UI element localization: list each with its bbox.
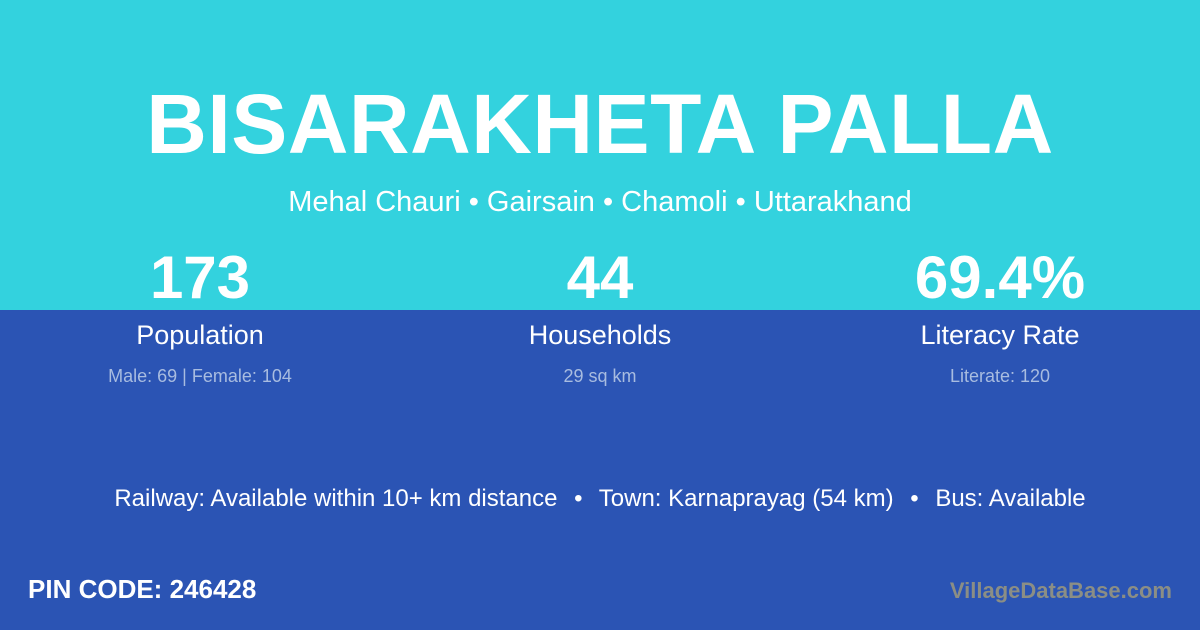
stat-literacy-rate: 69.4% Literacy Rate Literate: 120	[800, 240, 1200, 385]
stat-label-population: Population	[0, 322, 400, 349]
stat-sub-population: Male: 69 | Female: 104	[0, 367, 400, 385]
stat-value-literacy-rate: 69.4%	[800, 240, 1200, 308]
infra-separator-1: •	[564, 487, 592, 511]
infrastructure-row: Railway: Available within 10+ km distanc…	[0, 487, 1200, 511]
infra-railway: Railway: Available within 10+ km distanc…	[114, 485, 557, 512]
stat-label-literacy-rate: Literacy Rate	[800, 322, 1200, 349]
header: BISARAKHETA PALLA Mehal Chauri • Gairsai…	[0, 0, 1200, 217]
village-info-card: BISARAKHETA PALLA Mehal Chauri • Gairsai…	[0, 0, 1200, 630]
stat-sub-households: 29 sq km	[400, 367, 800, 385]
page-title: BISARAKHETA PALLA	[0, 0, 1200, 166]
stat-label-households: Households	[400, 322, 800, 349]
footer: PIN CODE: 246428 VillageDataBase.com	[0, 560, 1200, 630]
stat-sub-literacy-rate: Literate: 120	[800, 367, 1200, 385]
stat-population: 173 Population Male: 69 | Female: 104	[0, 240, 400, 385]
stat-value-households: 44	[400, 240, 800, 308]
infra-town: Town: Karnaprayag (54 km)	[599, 485, 894, 512]
infra-bus: Bus: Available	[935, 485, 1085, 512]
stat-households: 44 Households 29 sq km	[400, 240, 800, 385]
breadcrumb: Mehal Chauri • Gairsain • Chamoli • Utta…	[0, 188, 1200, 217]
pin-code: PIN CODE: 246428	[28, 576, 256, 602]
stats-row: 173 Population Male: 69 | Female: 104 44…	[0, 240, 1200, 385]
brand-watermark: VillageDataBase.com	[950, 580, 1172, 602]
infra-separator-2: •	[900, 487, 928, 511]
stat-value-population: 173	[0, 240, 400, 308]
